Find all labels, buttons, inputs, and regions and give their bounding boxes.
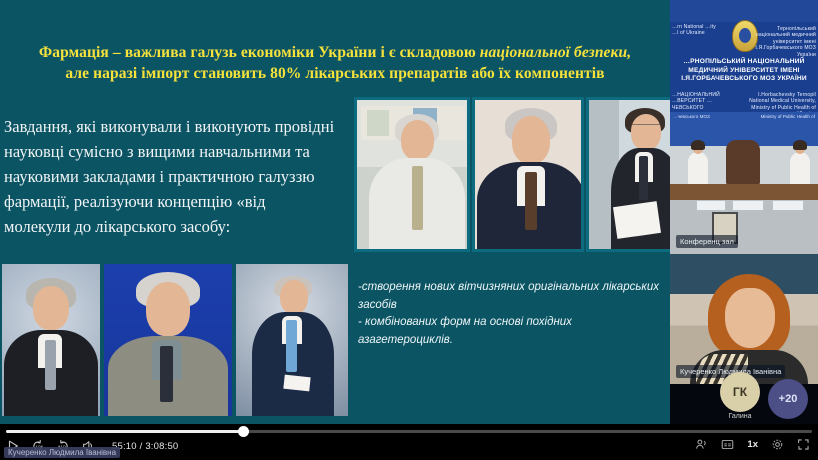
room-wall-text-left: …чевського МОЗ [673,114,710,119]
playback-speed-button[interactable]: 1x [747,439,758,450]
slide-title-line1-normal: Фармація – важлива галузь економіки Укра… [39,44,480,61]
slide-bullet-list: -створення нових вітчизняних оригінальни… [358,279,670,349]
slide-photo-portrait [354,97,470,252]
player-right-controls: 1x [695,438,810,451]
slide-body-line: молекули до лікарського засобу: [4,214,348,239]
total-duration: 3:08:50 [145,441,178,452]
slide-body-line: фармації, реалізуючи концепцію «від [4,189,348,214]
participant-tile-banner[interactable]: …rn National …ity …l of Ukraine Тернопіл… [670,0,818,112]
banner-text-bottom-left: …НАЦІОНАЛЬНИЙ …ВЕРСИТЕТ …ЧЕВСЬКОГО [672,92,722,111]
slide-photo-portrait [236,264,348,416]
slide-bullet-item: -створення нових вітчизняних оригінальни… [358,279,670,314]
progress-fill [6,430,243,433]
participants-icon[interactable] [695,438,708,451]
slide-title: Фармація – важлива галузь економіки Укра… [8,42,662,84]
slide-title-line1-italic: національної безпеки, [480,44,631,61]
slide-body-line: Завдання, які виконували і виконують про… [4,114,348,139]
university-banner-image: …rn National …ity …l of Ukraine Тернопіл… [670,0,818,112]
slide-title-line2: але наразі імпорт становить 80% лікарськ… [65,65,604,82]
slide-body-text: Завдання, які виконували і виконують про… [4,114,348,239]
avatar-overflow-item[interactable]: +20 [768,379,808,420]
chair-shape [726,140,760,186]
banner-text-left: …rn National …ity …l of Ukraine [672,24,718,37]
settings-gear-icon[interactable] [771,438,784,451]
slide-body-line: науковці сумісно з вищими навчальними та [4,139,348,164]
fullscreen-icon[interactable] [797,438,810,451]
player-bar: 10 10 55:10 / 3:08:50 [0,424,818,460]
room-wall-text-right: Ministry of Public Health of [761,114,815,119]
participant-tile-conference-room[interactable]: …чевського МОЗ Ministry of Public Health… [670,112,818,254]
slide-bullet-item: - комбінованих форм на основі похідних а… [358,314,670,349]
meeting-recording-player: Фармація – важлива галузь економіки Укра… [0,0,818,460]
participant-rail: …rn National …ity …l of Ukraine Тернопіл… [670,0,818,424]
slide-photo-portrait [2,264,100,416]
banner-text-main: …РНОПІЛЬСЬКИЙ НАЦІОНАЛЬНИЙ МЕДИЧНИЙ УНІВ… [674,58,814,84]
banner-text-bottom-right: I.Horbachevsky Ternopil National Medical… [746,92,816,112]
slide-photo-portrait [472,97,584,252]
banner-text-right: Тернопільський національний медичний уні… [754,26,816,58]
avatar[interactable]: ГК [720,372,760,412]
participant-tile-speaker[interactable]: Кучеренко Людмила Іванівна [670,254,818,384]
slide-photo-portrait [104,264,232,416]
progress-knob[interactable] [238,426,249,437]
participant-avatars: ГК Галина +20 [720,372,808,420]
time-display: 55:10 / 3:08:50 [112,441,178,452]
avatar-overflow-badge[interactable]: +20 [768,379,808,419]
participant-name-label: Конференц зал [676,235,738,248]
shared-slide: Фармація – важлива галузь економіки Укра… [0,0,670,424]
avatar-name: Галина [728,413,751,420]
captions-icon[interactable] [721,438,734,451]
slide-body-line: науковими закладами і практичною галуззю [4,164,348,189]
slide-photo-portrait [586,97,670,252]
conference-room-video: …чевського МОЗ Ministry of Public Health… [670,112,818,254]
person-shape [790,152,810,186]
progress-scrubber[interactable] [6,430,812,433]
person-shape [688,152,708,186]
avatar-item[interactable]: ГК Галина [720,372,760,420]
active-speaker-caption: Кучеренко Людмила Іванівна [4,447,120,458]
